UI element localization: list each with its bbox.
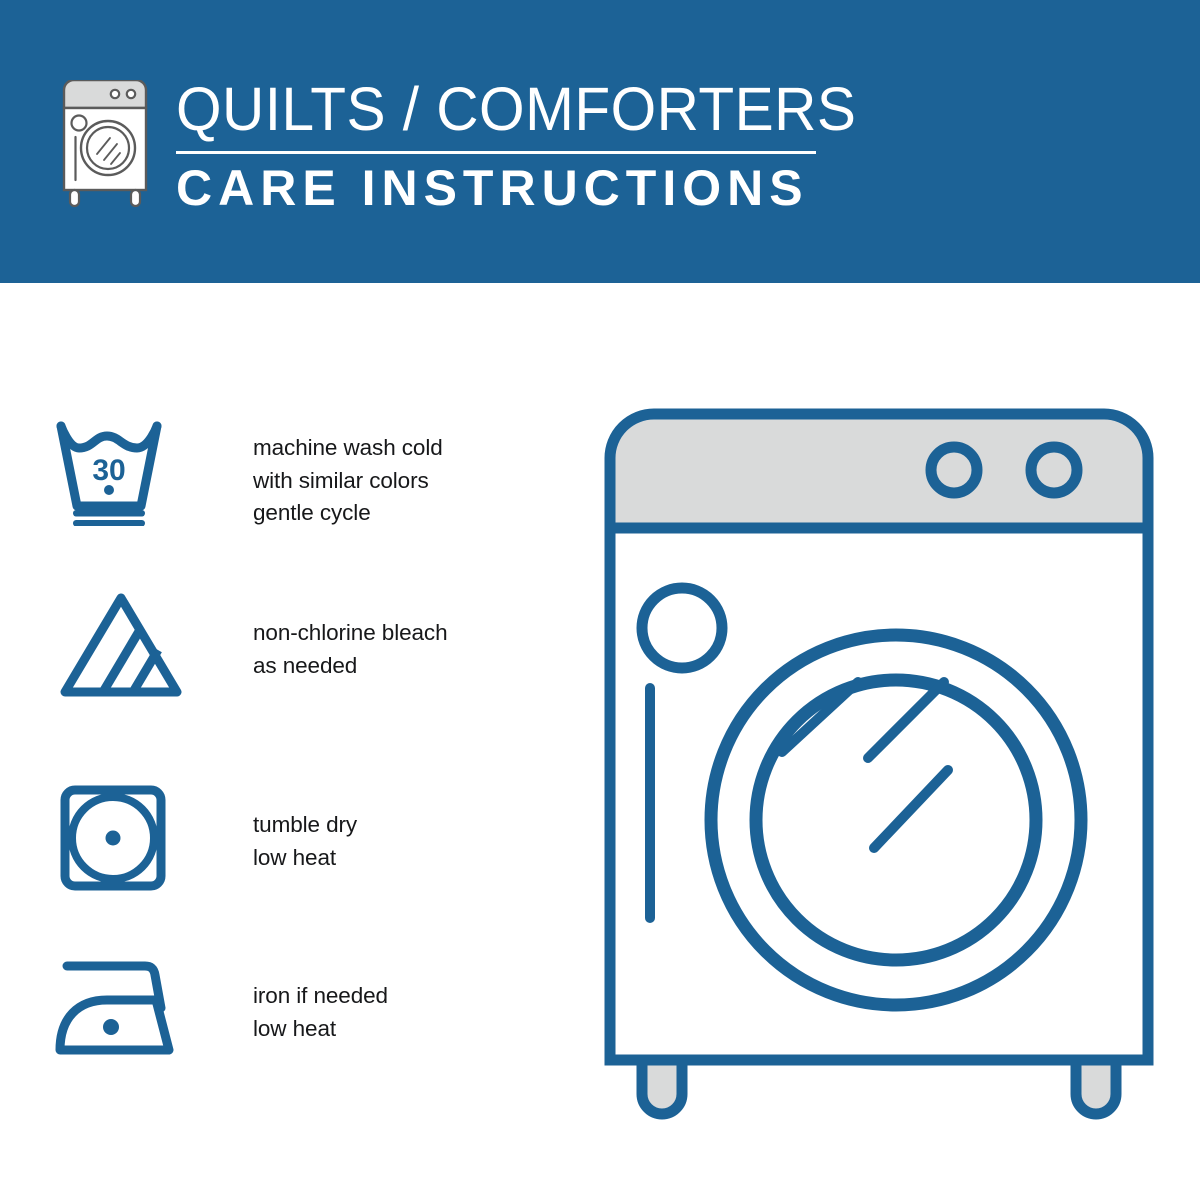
page-title: QUILTS / COMFORTERS: [176, 76, 856, 142]
care-item-tumble-dry: tumble dry low heat: [0, 782, 540, 892]
tumble-dry-low-heat-icon: [55, 782, 175, 892]
control-knob-left[interactable]: [931, 447, 977, 493]
control-knob-right[interactable]: [1031, 447, 1077, 493]
machine-leg-right: [1076, 1060, 1116, 1114]
care-text-line: non-chlorine bleach: [253, 617, 447, 650]
care-text-line: as needed: [253, 650, 447, 683]
header-banner: QUILTS / COMFORTERS CARE INSTRUCTIONS: [0, 0, 1200, 283]
page-subtitle: CARE INSTRUCTIONS: [176, 160, 885, 216]
care-icon-slot: 30: [55, 418, 205, 526]
care-text-line: iron if needed: [253, 980, 388, 1013]
care-item-text: non-chlorine bleach as needed: [253, 588, 447, 682]
header-content: QUILTS / COMFORTERS CARE INSTRUCTIONS: [52, 76, 885, 216]
care-item-machine-wash: 30 machine wash cold with similar colors…: [0, 418, 540, 530]
machine-leg-left: [642, 1060, 682, 1114]
iron-low-heat-icon: [55, 956, 195, 1060]
care-item-iron: iron if needed low heat: [0, 956, 540, 1060]
care-text-line: with similar colors: [253, 465, 443, 498]
washing-machine-icon: [52, 80, 158, 212]
care-item-bleach: non-chlorine bleach as needed: [0, 588, 540, 698]
header-titles: QUILTS / COMFORTERS CARE INSTRUCTIONS: [176, 76, 885, 216]
care-item-text: machine wash cold with similar colors ge…: [253, 418, 443, 530]
non-chlorine-bleach-triangle-icon: [55, 588, 187, 698]
care-icon-slot: [55, 956, 205, 1060]
care-text-line: tumble dry: [253, 809, 357, 842]
wash-temperature-label: 30: [92, 454, 125, 487]
care-item-text: iron if needed low heat: [253, 956, 388, 1045]
title-divider: [176, 151, 816, 154]
care-text-line: machine wash cold: [253, 432, 443, 465]
wash-tub-30-gentle-icon: 30: [55, 418, 187, 526]
washing-machine-illustration: [596, 400, 1162, 1124]
care-item-text: tumble dry low heat: [253, 782, 357, 874]
care-icon-slot: [55, 782, 205, 892]
care-icon-slot: [55, 588, 205, 698]
care-text-line: gentle cycle: [253, 497, 443, 530]
program-dial[interactable]: [642, 588, 722, 668]
care-text-line: low heat: [253, 842, 357, 875]
care-text-line: low heat: [253, 1013, 388, 1046]
